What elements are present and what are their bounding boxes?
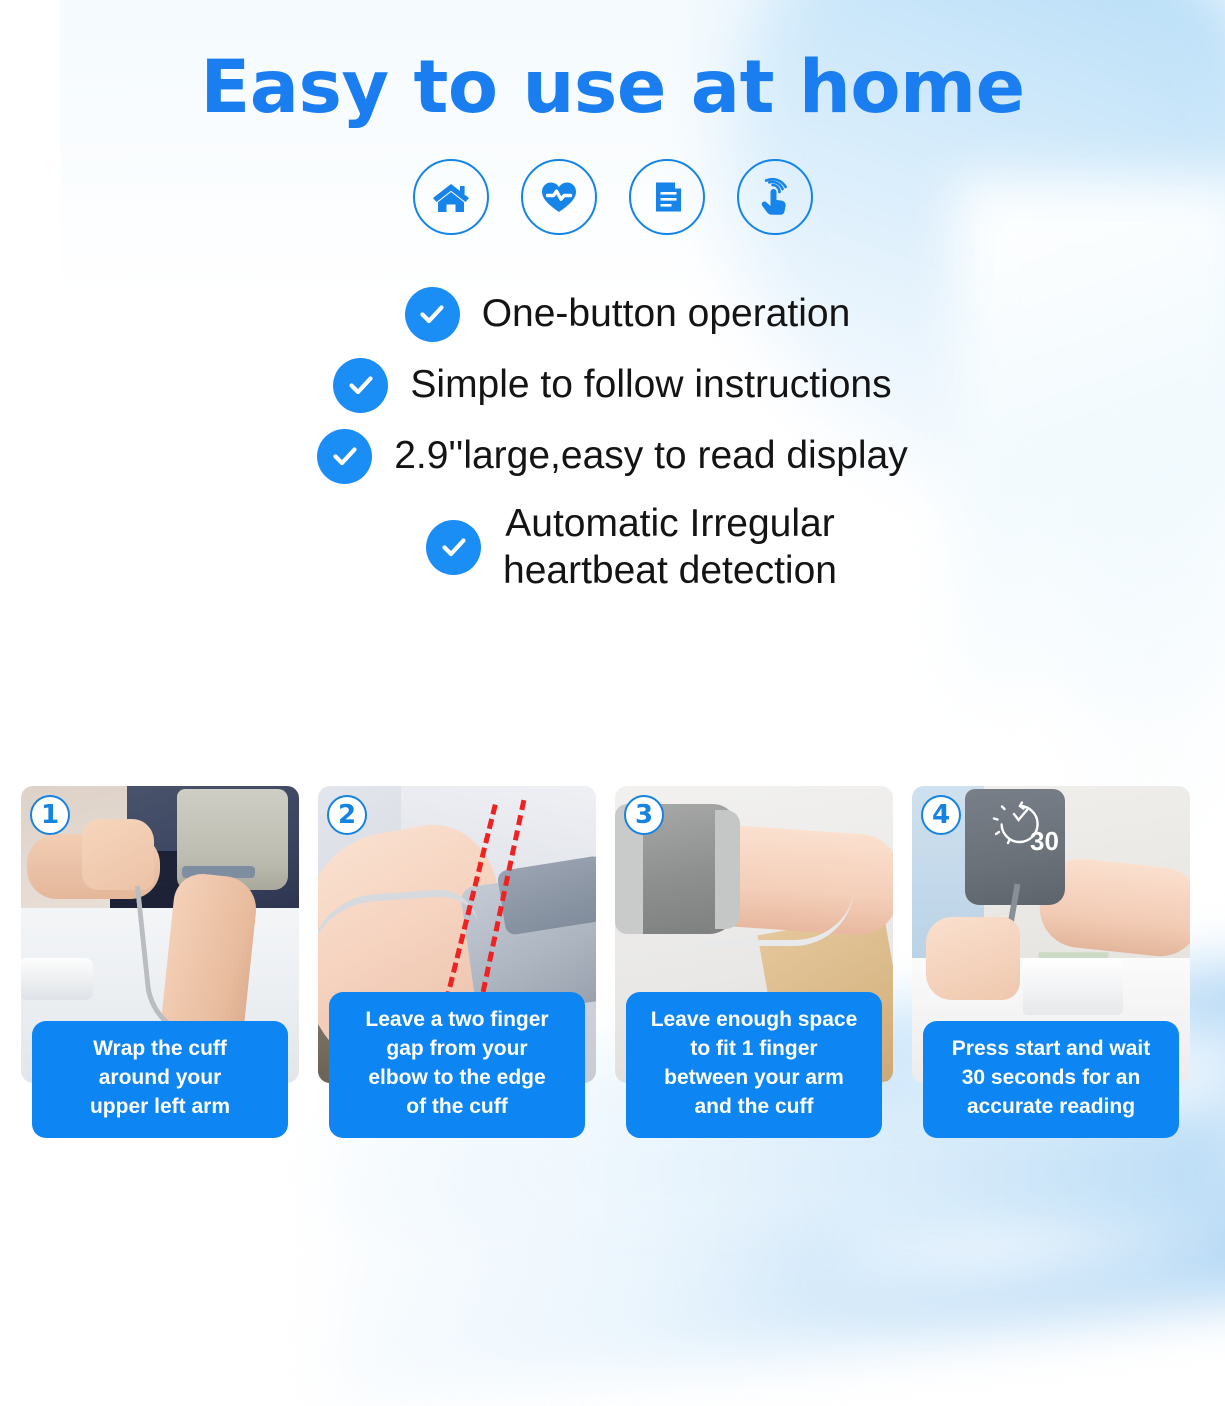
step-card-list: 1 Wrap the cuff around your upper left a… (21, 786, 1204, 1138)
feature-item: 2.9''large,easy to read display (0, 429, 1225, 484)
step-number-badge: 3 (624, 795, 664, 835)
check-icon (426, 520, 481, 575)
check-icon (317, 429, 372, 484)
timer-30-icon: 30 (984, 798, 1062, 862)
timer-value: 30 (1030, 826, 1059, 856)
step-number-badge: 2 (327, 795, 367, 835)
step-caption: Leave a two finger gap from your elbow t… (329, 992, 585, 1138)
feature-item: Automatic Irregular heartbeat detection (0, 500, 1225, 595)
heart-pulse-icon (521, 159, 597, 235)
step-number-badge: 1 (30, 795, 70, 835)
document-icon (629, 159, 705, 235)
feature-item: Simple to follow instructions (0, 358, 1225, 413)
step-caption: Press start and wait 30 seconds for an a… (923, 1021, 1179, 1138)
step-card: 1 Wrap the cuff around your upper left a… (21, 786, 299, 1138)
feature-list: One-button operation Simple to follow in… (0, 287, 1225, 595)
page-title: Easy to use at home (0, 0, 1225, 127)
step-number-badge: 4 (921, 795, 961, 835)
step-caption: Leave enough space to fit 1 finger betwe… (626, 992, 882, 1138)
feature-label: Simple to follow instructions (410, 361, 891, 409)
step-card: 3 Leave enough space to fit 1 finger bet… (615, 786, 893, 1138)
promo-page: Easy to use at home (0, 0, 1225, 1225)
check-icon (333, 358, 388, 413)
feature-item: One-button operation (0, 287, 1225, 342)
feature-label: Automatic Irregular heartbeat detection (503, 500, 837, 595)
feature-label: One-button operation (482, 290, 851, 338)
step-card: 2 Leave a two finger gap from your elbow… (318, 786, 596, 1138)
feature-icon-row (0, 159, 1225, 235)
check-icon (405, 287, 460, 342)
home-icon (413, 159, 489, 235)
feature-label: 2.9''large,easy to read display (394, 432, 908, 480)
step-card: 30 4 Press start and wait 30 seconds for… (912, 786, 1190, 1138)
step-caption: Wrap the cuff around your upper left arm (32, 1021, 288, 1138)
tap-gesture-icon (737, 159, 813, 235)
